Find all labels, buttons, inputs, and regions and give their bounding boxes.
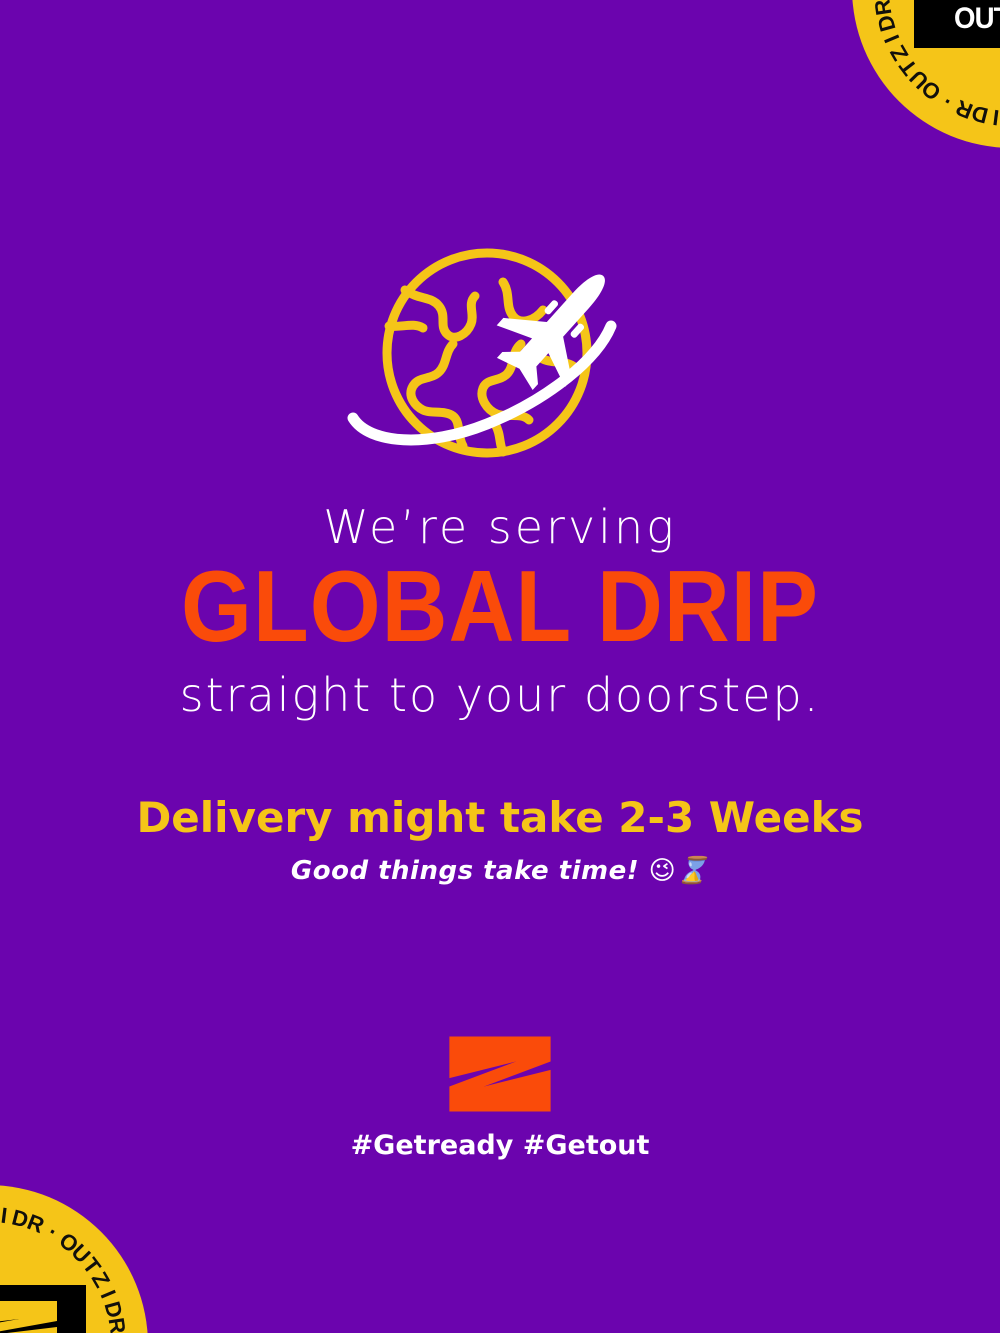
eyebrow-text: We’re serving (0, 500, 1000, 554)
delivery-notice: Delivery might take 2-3 Weeks (0, 793, 1000, 842)
copy-block: We’re serving GLOBAL DRIP straight to yo… (0, 500, 1000, 886)
badge-core: OUTZIDR (0, 1285, 86, 1333)
subline-text: straight to your doorstep. (0, 668, 1000, 723)
badge-wordmark: OUTZIDR (954, 4, 1000, 34)
corner-badge-bottom-left: OUTZIDR·OUTZIDR·OUTZIDR·OUTZIDR·OUTZIDR·… (0, 1185, 148, 1333)
tagline-text: Good things take time! 😉⌛ (0, 856, 1000, 886)
globe-with-airplane-icon (335, 248, 665, 468)
badge-core: OUTZIDR (914, 0, 1000, 48)
footer-brand: #Getready #Getout (0, 1035, 1000, 1161)
outzidr-z-logo-icon (448, 1035, 552, 1113)
hero-illustration (0, 248, 1000, 468)
outzidr-z-logo-icon (0, 1299, 63, 1333)
hashtags-text: #Getready #Getout (0, 1130, 1000, 1161)
promo-poster: OUTZIDR·OUTZIDR·OUTZIDR·OUTZIDR·OUTZIDR·… (0, 0, 1000, 1333)
page-title: GLOBAL DRIP (0, 556, 1000, 660)
corner-badge-top-right: OUTZIDR·OUTZIDR·OUTZIDR·OUTZIDR·OUTZIDR·… (852, 0, 1000, 148)
